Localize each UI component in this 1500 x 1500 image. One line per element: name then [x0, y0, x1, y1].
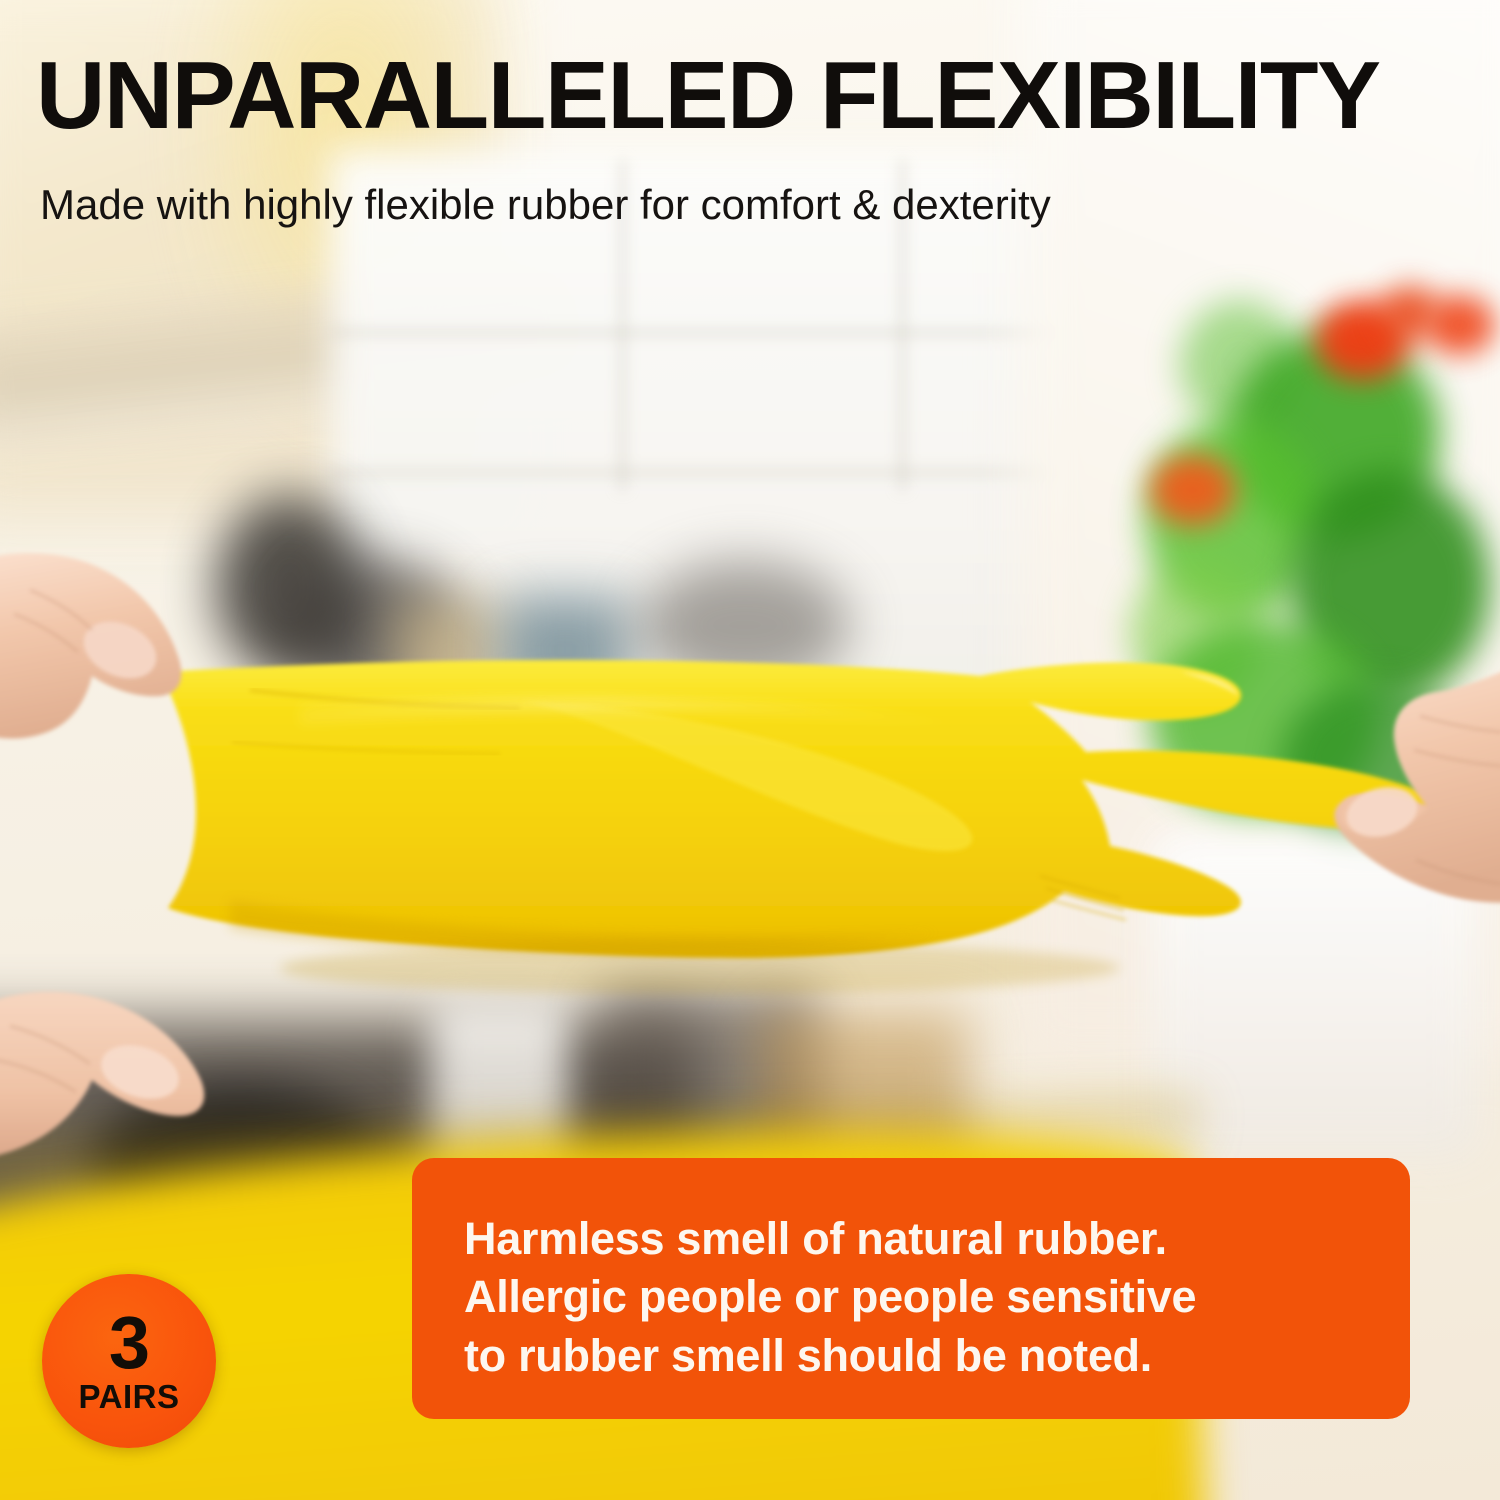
warning-callout: Harmless smell of natural rubber. Allerg… — [412, 1158, 1410, 1419]
product-feature-image: UNPARALLELED FLEXIBILITY Made with highl… — [0, 0, 1500, 1500]
badge-count: 3 — [109, 1309, 149, 1377]
callout-line-3: to rubber smell should be noted. — [464, 1327, 1376, 1386]
callout-line-2: Allergic people or people sensitive — [464, 1268, 1376, 1327]
badge-label: PAIRS — [79, 1380, 180, 1413]
left-hand-upper — [0, 553, 181, 738]
callout-line-1: Harmless smell of natural rubber. — [464, 1210, 1376, 1269]
subtitle: Made with highly flexible rubber for com… — [40, 182, 1051, 228]
left-hand-lower — [0, 992, 204, 1160]
page-title: UNPARALLELED FLEXIBILITY — [36, 48, 1380, 144]
glove-cast-shadow — [280, 942, 1120, 994]
pairs-badge: 3 PAIRS — [42, 1274, 216, 1448]
